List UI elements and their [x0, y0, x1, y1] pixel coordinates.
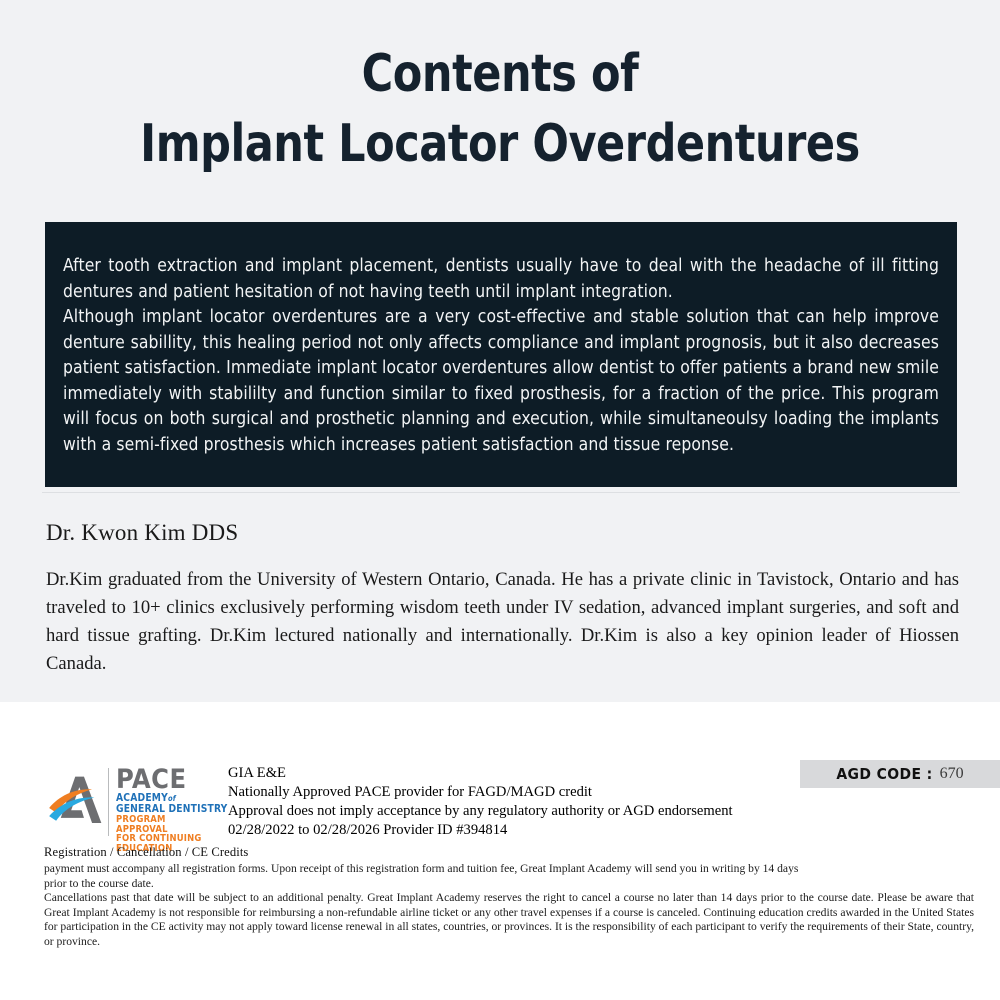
- abstract-box: After tooth extraction and implant place…: [45, 222, 957, 487]
- agd-code-value: 670: [940, 765, 964, 783]
- abstract-text: After tooth extraction and implant place…: [63, 254, 939, 458]
- speaker-bio: Dr.Kim graduated from the University of …: [46, 566, 959, 678]
- agd-code-label: AGD CODE :: [836, 765, 932, 783]
- pace-logo: PACE ACADEMYof GENERAL DENTISTRY PROGRAM…: [48, 766, 220, 838]
- fineprint-paragraph-2: Cancellations past that date will be sub…: [44, 891, 974, 949]
- pace-general-dentistry-text: GENERAL DENTISTRY: [116, 804, 228, 815]
- pace-academy-text: ACADEMY: [116, 793, 168, 804]
- fineprint-paragraph-1: payment must accompany all registration …: [44, 862, 974, 891]
- pace-of-text: of: [168, 794, 176, 803]
- page-title: Contents of Implant Locator Overdentures: [0, 48, 1000, 170]
- agd-code-badge: AGD CODE : 670: [800, 760, 1000, 788]
- page-title-line-2: Implant Locator Overdentures: [40, 118, 960, 170]
- pace-logo-divider: [108, 768, 109, 836]
- fineprint-heading: Registration / Cancellation / CE Credits: [44, 845, 248, 860]
- pace-a-mark-icon: [48, 772, 106, 830]
- page-title-line-1: Contents of: [40, 48, 960, 100]
- speaker-name: Dr. Kwon Kim DDS: [46, 520, 238, 546]
- pace-subtitle-blue: ACADEMYof GENERAL DENTISTRY: [116, 794, 228, 815]
- accreditation-text: GIA E&E Nationally Approved PACE provide…: [228, 764, 733, 840]
- pace-wordmark: PACE: [116, 766, 187, 793]
- section-divider: [42, 492, 960, 493]
